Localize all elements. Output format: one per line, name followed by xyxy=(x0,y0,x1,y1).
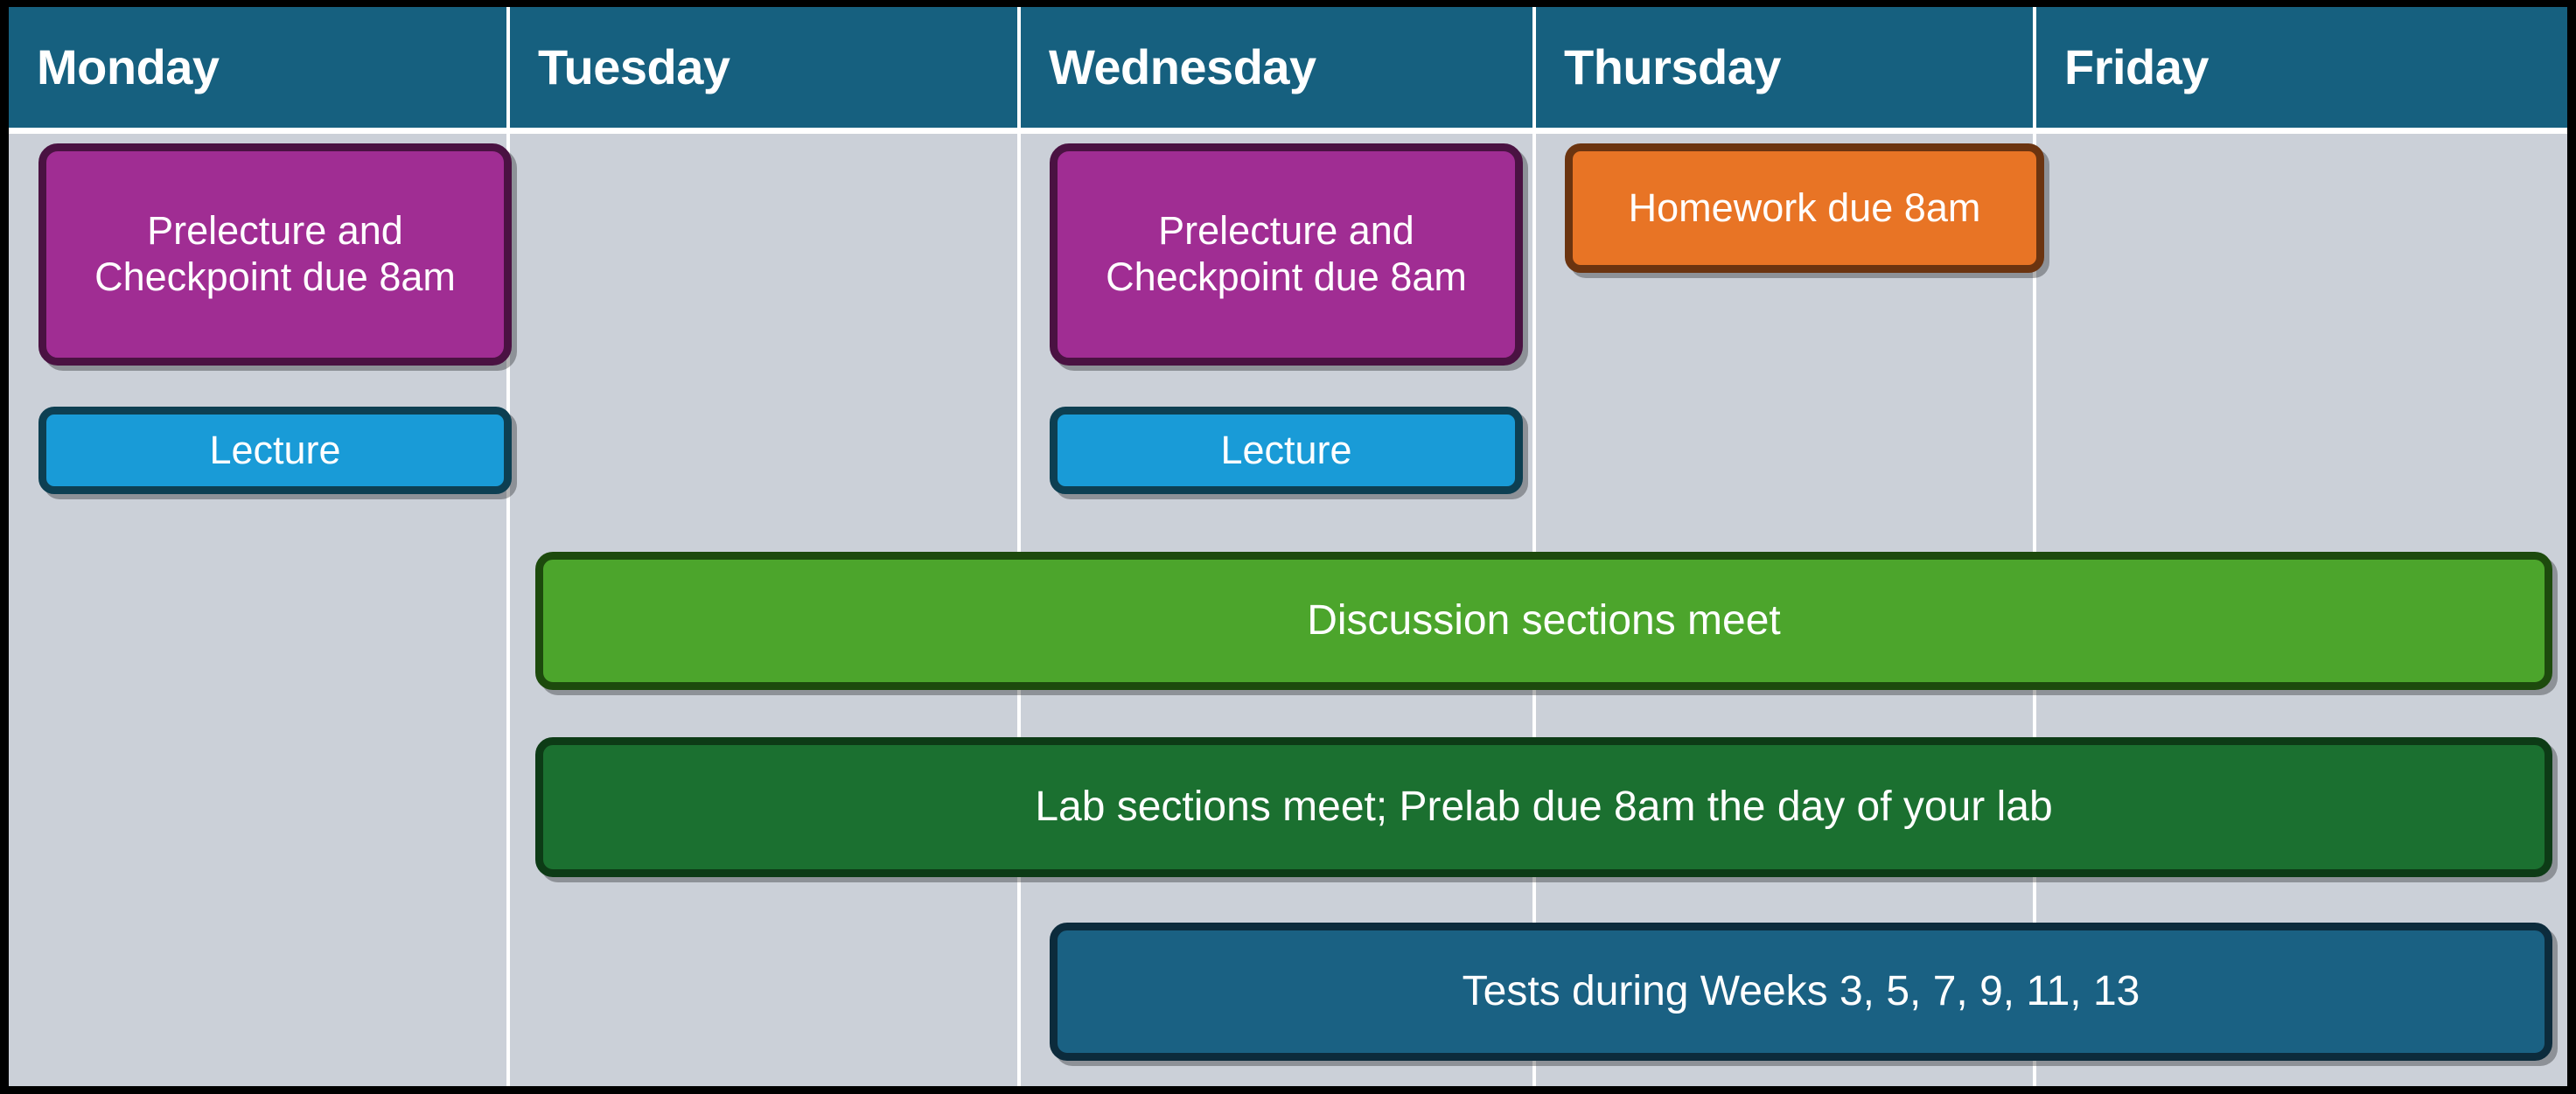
event-card-label: Prelecture and Checkpoint due 8am xyxy=(46,208,504,300)
event-card-thursday-homework[interactable]: Homework due 8am xyxy=(1565,143,2044,273)
event-card-label: Lecture xyxy=(1220,428,1351,474)
day-header-label: Tuesday xyxy=(538,43,730,92)
event-card-monday-lecture[interactable]: Lecture xyxy=(38,407,512,494)
weekly-schedule-table: Monday Tuesday Wednesday Thursday Friday xyxy=(9,7,2567,1086)
event-card-label: Lecture xyxy=(209,428,340,474)
event-card-monday-prelecture[interactable]: Prelecture and Checkpoint due 8am xyxy=(38,143,512,366)
event-bar-label: Discussion sections meet xyxy=(1307,596,1781,645)
day-header-row: Monday Tuesday Wednesday Thursday Friday xyxy=(9,7,2567,128)
event-bar-label: Tests during Weeks 3, 5, 7, 9, 11, 13 xyxy=(1463,967,2140,1016)
day-header-label: Monday xyxy=(37,43,220,92)
event-card-wednesday-lecture[interactable]: Lecture xyxy=(1050,407,1523,494)
event-bar-lab-sections[interactable]: Lab sections meet; Prelab due 8am the da… xyxy=(535,737,2552,877)
event-bar-label: Lab sections meet; Prelab due 8am the da… xyxy=(1035,783,2052,832)
day-header-friday: Friday xyxy=(2036,7,2567,128)
day-header-label: Wednesday xyxy=(1049,43,1316,92)
event-card-wednesday-prelecture[interactable]: Prelecture and Checkpoint due 8am xyxy=(1050,143,1523,366)
day-header-monday: Monday xyxy=(9,7,506,128)
schedule-frame: Monday Tuesday Wednesday Thursday Friday xyxy=(0,0,2576,1094)
day-header-tuesday: Tuesday xyxy=(510,7,1017,128)
day-header-thursday: Thursday xyxy=(1536,7,2033,128)
event-card-label: Prelecture and Checkpoint due 8am xyxy=(1058,208,1515,300)
day-header-label: Thursday xyxy=(1564,43,1781,92)
day-header-label: Friday xyxy=(2064,43,2209,92)
day-header-wednesday: Wednesday xyxy=(1021,7,1532,128)
event-bar-tests[interactable]: Tests during Weeks 3, 5, 7, 9, 11, 13 xyxy=(1050,923,2552,1061)
event-bar-discussion-sections[interactable]: Discussion sections meet xyxy=(535,552,2552,690)
event-card-label: Homework due 8am xyxy=(1629,185,1981,232)
